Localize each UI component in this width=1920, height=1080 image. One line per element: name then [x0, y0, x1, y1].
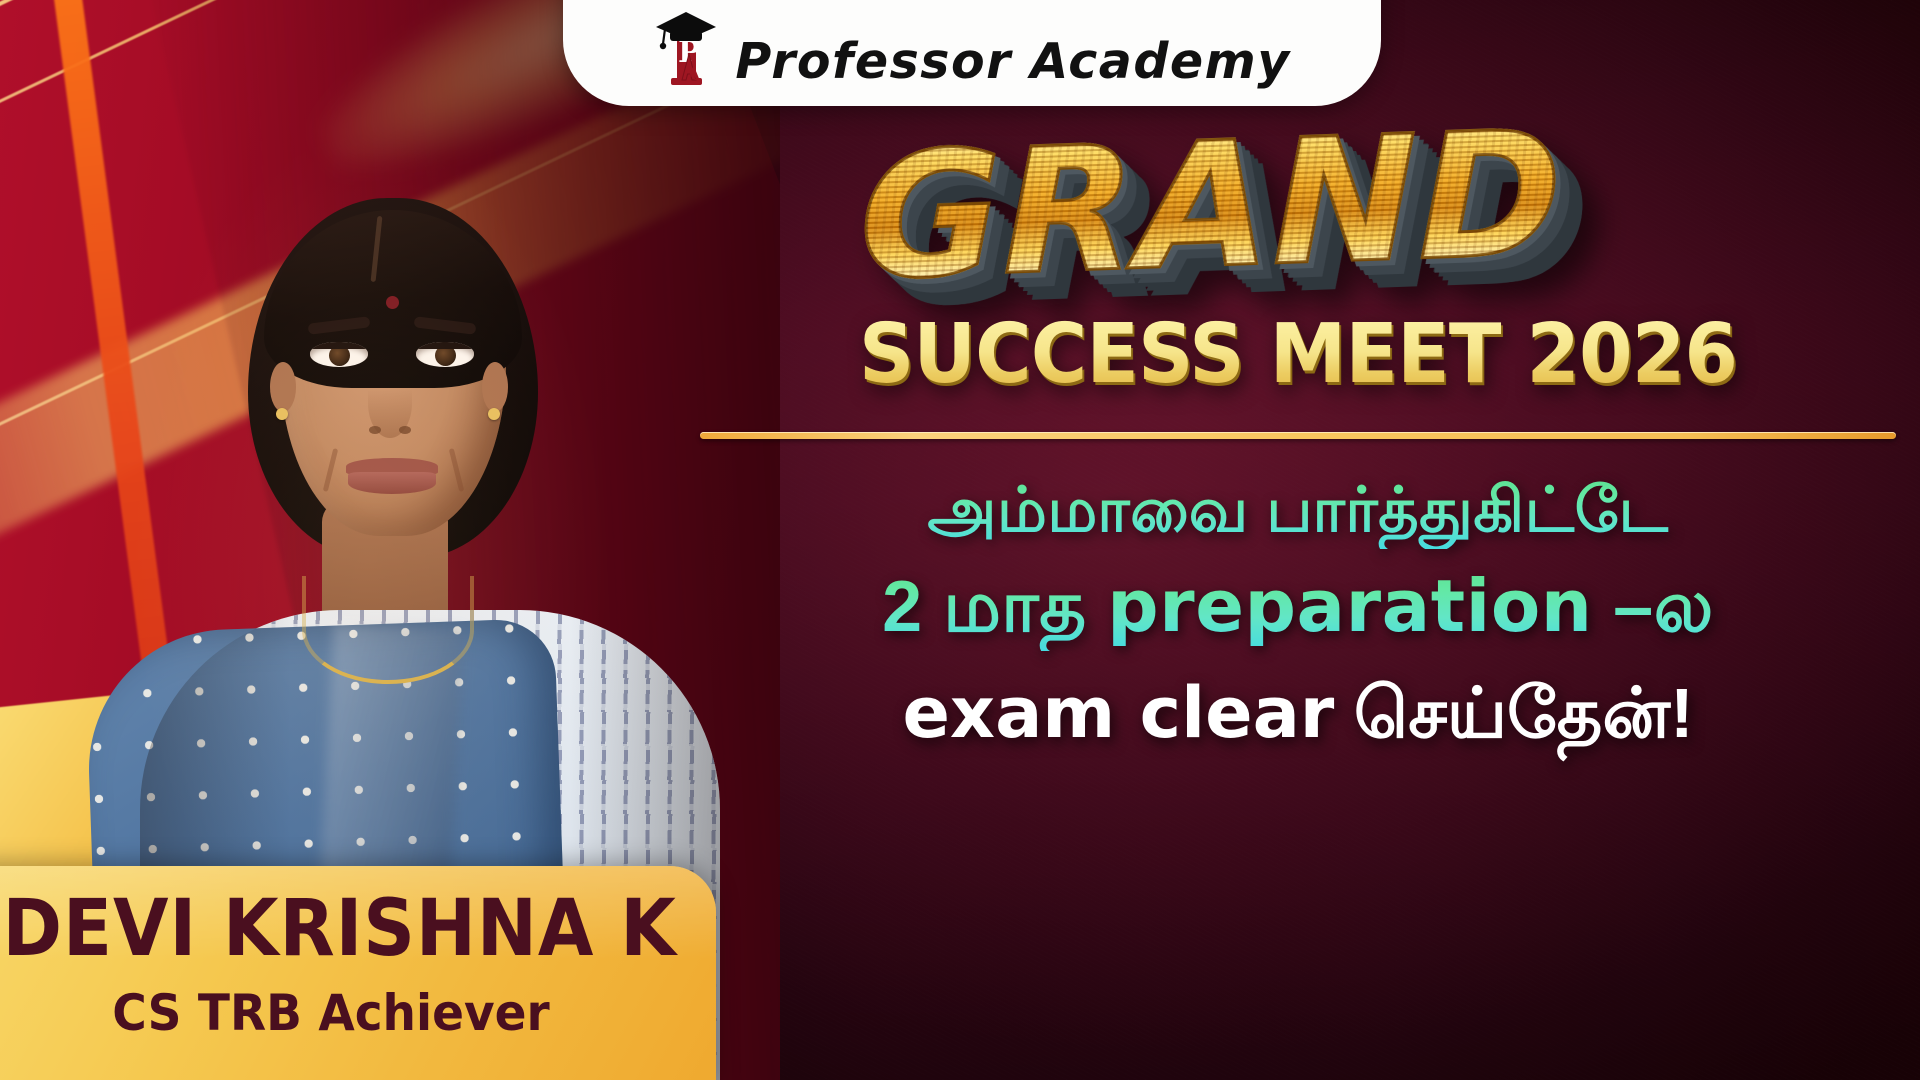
achiever-name-banner: DEVI KRISHNA K CS TRB Achiever	[0, 866, 716, 1080]
eyelash-left	[310, 342, 368, 349]
headline-block: GRAND GRAND SUCCESS MEET 2026 அம்மாவை பா…	[700, 120, 1896, 757]
grand-title-wrap: GRAND GRAND	[700, 120, 1896, 310]
achiever-role: CS TRB Achiever	[0, 988, 667, 1038]
brand-logo-badge[interactable]: P A Professor Academy	[563, 0, 1381, 106]
success-meet-title: SUCCESS MEET 2026	[736, 314, 1860, 396]
brand-name: Professor Academy	[735, 37, 1290, 90]
ear-left	[270, 362, 296, 412]
graduation-cap-icon: P A	[653, 10, 719, 90]
grand-title: GRAND	[860, 108, 1563, 305]
achiever-name-banner-inner: DEVI KRISHNA K CS TRB Achiever	[0, 890, 688, 1038]
lower-lip	[348, 472, 436, 494]
caption-block: அம்மாவை பார்த்துகிட்டே 2 மாத preparation…	[700, 473, 1896, 757]
eye-left	[310, 342, 368, 367]
caption-line-2: 2 மாத preparation –ல	[700, 563, 1896, 652]
gold-chain-necklace	[302, 576, 474, 684]
caption-line-2-keyword: preparation	[1107, 564, 1592, 648]
caption-line-2-suffix: –ல	[1593, 567, 1714, 647]
eyelash-right	[416, 342, 474, 349]
caption-line-3-keyword: exam clear	[902, 672, 1334, 754]
nostril-left	[369, 426, 381, 434]
caption-line-1: அம்மாவை பார்த்துகிட்டே	[700, 473, 1896, 549]
bindi	[386, 296, 399, 309]
earring-right	[488, 408, 500, 420]
caption-line-3: exam clear செய்தேன்!	[700, 671, 1896, 756]
thumbnail-canvas: P A Professor Academy GRAND GRAND SUCCES…	[0, 0, 1920, 1080]
ear-right	[482, 362, 508, 412]
caption-line-2-prefix: 2 மாத	[882, 567, 1107, 647]
earring-left	[276, 408, 288, 420]
eye-right	[416, 342, 474, 367]
caption-line-3-tamil: செய்தேன்!	[1334, 674, 1693, 752]
gold-divider	[700, 432, 1896, 439]
achiever-name: DEVI KRISHNA K	[3, 890, 660, 968]
nose	[368, 368, 412, 438]
svg-text:A: A	[686, 65, 701, 85]
nostril-right	[399, 426, 411, 434]
